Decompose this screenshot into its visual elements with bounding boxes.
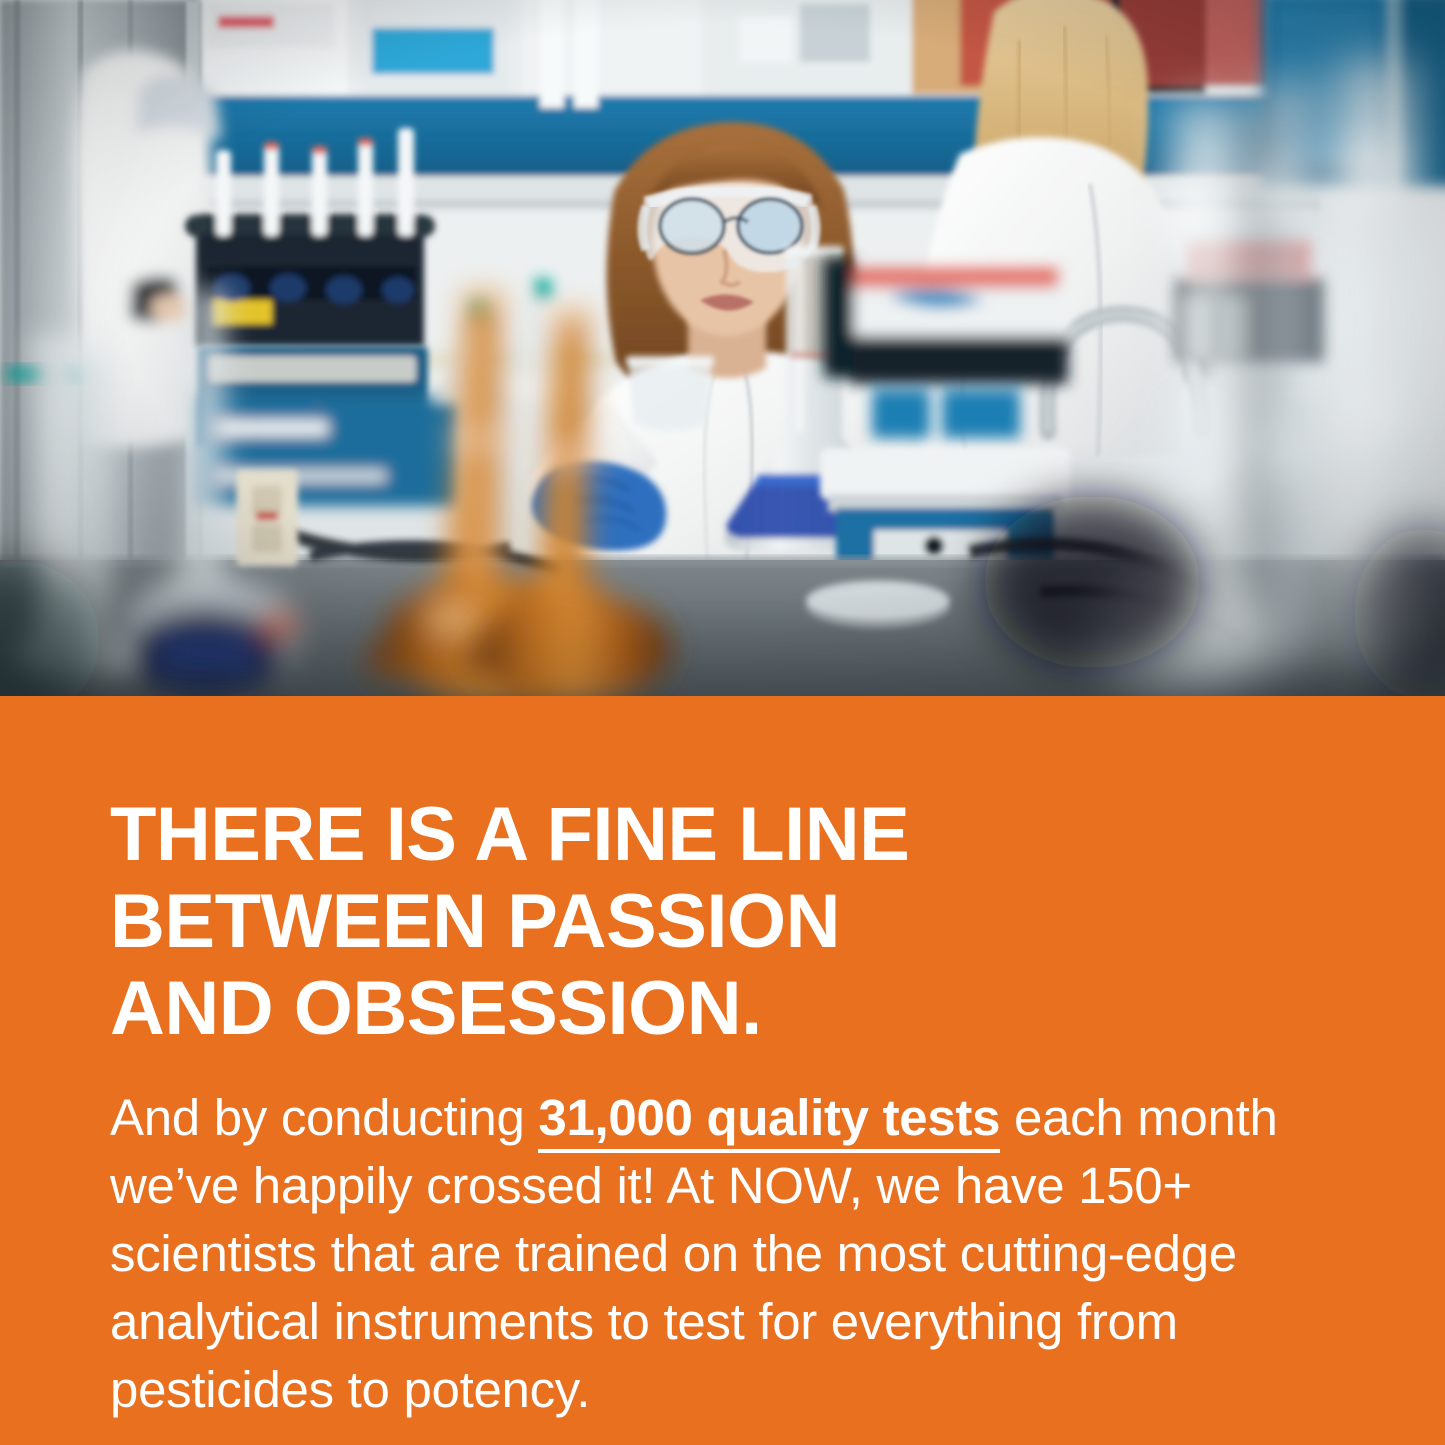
- photo-vignette: [0, 0, 1445, 696]
- body-copy: And by conducting 31,000 quality tests e…: [110, 1084, 1345, 1424]
- laboratory-photo-illustration: 500: [0, 0, 1445, 696]
- body-lead: And by conducting: [110, 1089, 538, 1146]
- page-title: There is a fine line between passion and…: [110, 791, 1370, 1052]
- laboratory-photo: 500: [0, 0, 1445, 696]
- quality-tests-emphasis: 31,000 quality tests: [538, 1089, 1000, 1153]
- marketing-poster: 500: [0, 0, 1445, 1445]
